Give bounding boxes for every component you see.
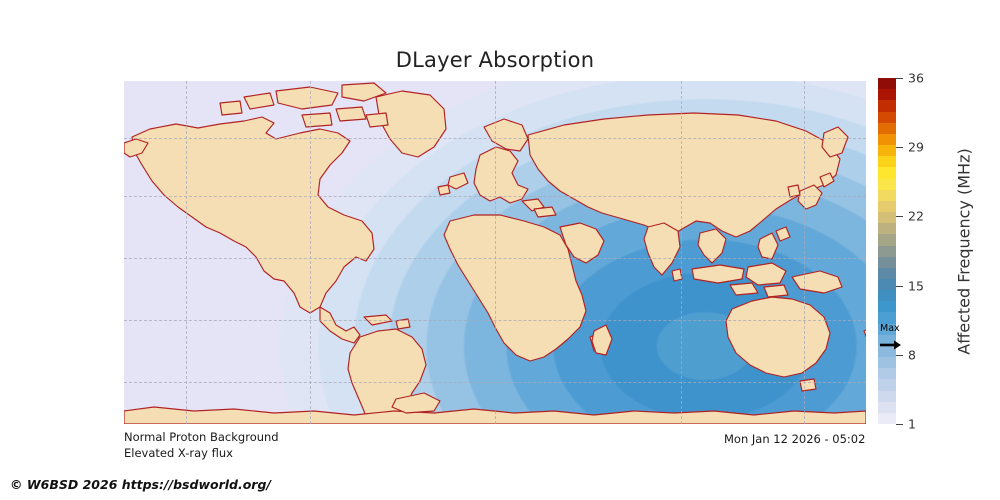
colorbar-tick (896, 424, 903, 425)
colorbar-tick-label: 15 (908, 278, 924, 293)
colorbar-tick-label: 22 (908, 209, 924, 224)
copyright-notice: © W6BSD 2026 https://bsdworld.org/ (10, 477, 271, 492)
max-arrow-icon (879, 340, 901, 350)
colorbar[interactable] (878, 78, 896, 424)
colorbar-tick (896, 286, 903, 287)
gridline-lon-120e (804, 81, 805, 424)
timestamp: Mon Jan 12 2026 - 05:02 (724, 432, 865, 446)
colorbar-max-label: Max (880, 323, 900, 334)
colorbar-tick-label: 36 (908, 71, 924, 86)
colorbar-axis-label-text: Affected Frequency (MHz) (955, 148, 974, 354)
colorbar-tick-label: 8 (908, 347, 916, 362)
colorbar-tick (896, 355, 903, 356)
map-panel[interactable] (124, 81, 866, 424)
gridline-lat-30n (124, 196, 866, 197)
gridline-lat-30s (124, 320, 866, 321)
map-clip (124, 81, 866, 424)
page-title: DLayer Absorption (0, 48, 990, 72)
gridline-lon-60e (681, 81, 682, 424)
colorbar-axis-label: Affected Frequency (MHz) (951, 78, 977, 424)
gridline-lat-60n (124, 138, 866, 139)
gridline-lon-0 (495, 81, 496, 424)
annotation-line-2: Elevated X-ray flux (124, 446, 233, 460)
colorbar-tick-label: 29 (908, 140, 924, 155)
figure-root: DLayer Absorption (0, 0, 1000, 500)
colorbar-tick (896, 78, 903, 79)
colorbar-tick-label: 1 (908, 417, 916, 432)
gridline-lon-60w (310, 81, 311, 424)
gridline-lat-0 (124, 258, 866, 259)
colorbar-frame (878, 78, 896, 424)
gridline-lat-60s (124, 382, 866, 383)
gridline-lon-120w (186, 81, 187, 424)
annotation-line-1: Normal Proton Background (124, 430, 279, 444)
colorbar-tick (896, 216, 903, 217)
colorbar-tick (896, 147, 903, 148)
